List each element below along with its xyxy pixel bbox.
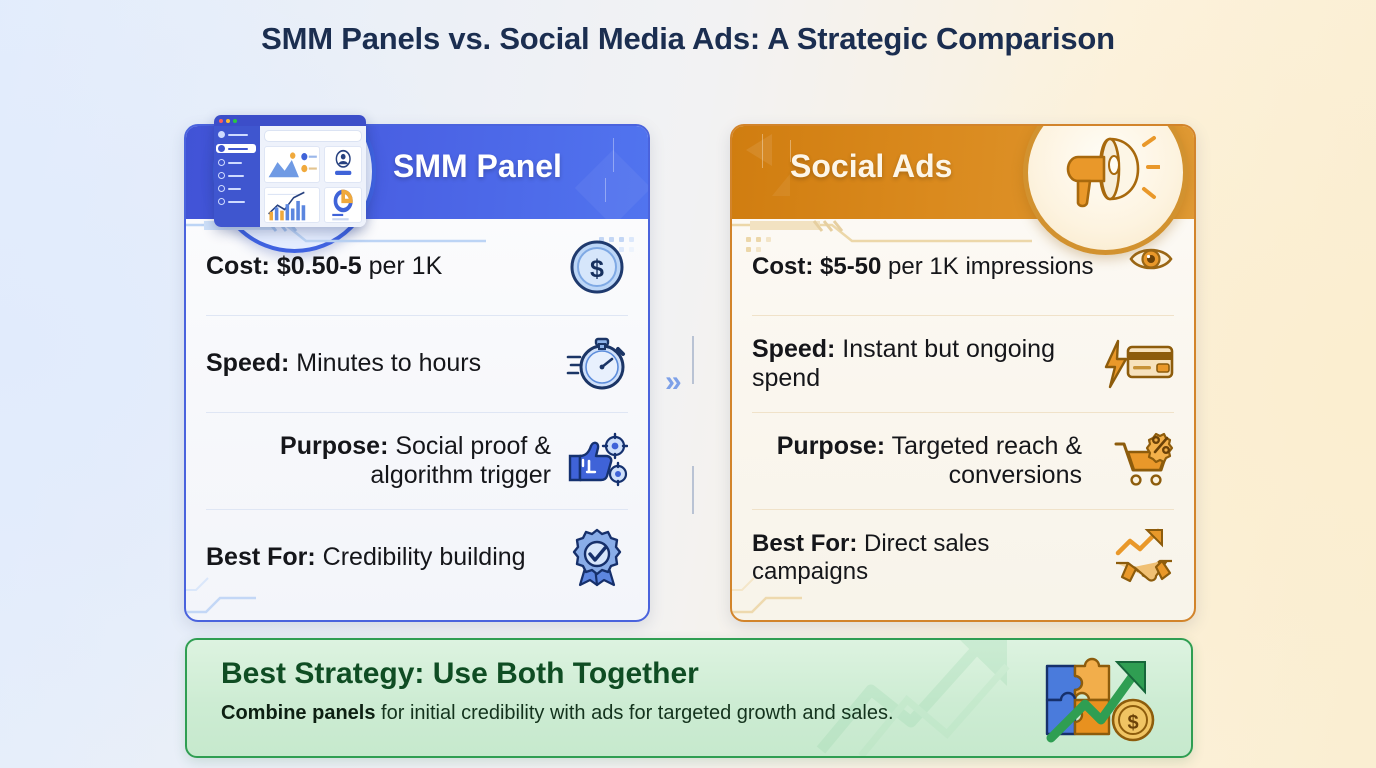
row-text-purpose: Purpose: Social proof & algorithm trigge…: [206, 432, 551, 491]
stopwatch-icon: [566, 333, 628, 395]
center-chevrons: »: [665, 365, 678, 399]
card-title-social-ads: Social Ads: [790, 148, 952, 185]
dashboard-window-icon: [214, 115, 366, 227]
row-label-bestfor: Best For:: [752, 530, 857, 557]
row-value-cost: $0.50-5: [270, 252, 362, 280]
row-label-bestfor: Best For:: [206, 543, 316, 571]
row-text-speed: Speed: Instant but ongoing spend: [752, 335, 1082, 394]
eye-impressions-icon: [1128, 236, 1174, 298]
svg-text:$: $: [1127, 712, 1138, 734]
banner-title: Best Strategy: Use Both Together: [221, 657, 699, 691]
banner-subtitle-rest: for initial credibility with ads for tar…: [375, 702, 893, 724]
row-value-purpose: Social proof & algorithm trigger: [370, 432, 551, 490]
row-label-speed: Speed:: [752, 335, 835, 363]
row-text-bestfor: Best For: Direct sales campaigns: [752, 530, 1092, 587]
handshake-growth-arrow-icon: [1114, 527, 1174, 589]
card-title-smm-panel: SMM Panel: [393, 148, 562, 185]
row-value-cost: $5-50: [813, 253, 881, 280]
row-value-bestfor: Credibility building: [316, 543, 526, 571]
row-label-speed: Speed:: [206, 349, 289, 377]
table-row: Best For: Credibility building: [206, 509, 628, 606]
chevron-blue-icon: »: [665, 365, 678, 398]
credit-card-lightning-icon: [1102, 333, 1174, 395]
page-title: SMM Panels vs. Social Media Ads: A Strat…: [0, 21, 1376, 57]
table-row: Cost: $5-50 per 1K impressions: [752, 219, 1174, 315]
banner-subtitle: Combine panels for initial credibility w…: [221, 702, 894, 725]
card-rows-social-ads: Cost: $5-50 per 1K impressions Speed: In…: [732, 219, 1194, 620]
row-label-cost: Cost:: [752, 253, 813, 280]
infographic-canvas: SMM Panels vs. Social Media Ads: A Strat…: [0, 0, 1376, 768]
card-rows-smm-panel: Cost: $0.50-5 per 1K $ Speed: Minutes to…: [186, 219, 648, 620]
row-tail-cost: per 1K: [362, 252, 443, 280]
row-text-cost: Cost: $5-50 per 1K impressions: [752, 253, 1093, 281]
dollar-coin-icon: $: [566, 236, 628, 298]
row-value-purpose: Targeted reach & conversions: [885, 432, 1082, 490]
award-ribbon-check-icon: [566, 527, 628, 589]
center-divider-bottom: [692, 466, 694, 514]
table-row: Best For: Direct sales campaigns: [752, 509, 1174, 606]
table-row: Purpose: Social proof & algorithm trigge…: [206, 412, 628, 509]
row-tail-cost: per 1K impressions: [881, 253, 1093, 280]
table-row: Purpose: Targeted reach & conversions: [752, 412, 1174, 509]
row-text-purpose: Purpose: Targeted reach & conversions: [752, 432, 1082, 491]
row-text-bestfor: Best For: Credibility building: [206, 543, 526, 573]
row-text-speed: Speed: Minutes to hours: [206, 349, 481, 379]
background-arrow-decoration: [811, 638, 1041, 758]
megaphone-icon: [1052, 125, 1160, 217]
table-row: Speed: Minutes to hours: [206, 315, 628, 412]
center-divider-top: [692, 336, 694, 384]
row-text-cost: Cost: $0.50-5 per 1K: [206, 252, 442, 282]
row-label-purpose: Purpose:: [280, 432, 388, 460]
puzzle-growth-dollar-icon: $: [1033, 648, 1169, 748]
svg-text:$: $: [590, 255, 604, 283]
comparison-card-social-ads: Social Ads: [730, 124, 1196, 622]
row-value-speed: Minutes to hours: [289, 349, 481, 377]
table-row: Cost: $0.50-5 per 1K $: [206, 219, 628, 315]
row-label-purpose: Purpose:: [777, 432, 885, 460]
banner-subtitle-bold: Combine panels: [221, 702, 375, 724]
thumbs-up-gears-icon: [566, 430, 628, 492]
best-strategy-banner: Best Strategy: Use Both Together Combine…: [185, 638, 1193, 758]
table-row: Speed: Instant but ongoing spend: [752, 315, 1174, 412]
row-label-cost: Cost:: [206, 252, 270, 280]
shopping-cart-discount-icon: [1112, 430, 1174, 492]
